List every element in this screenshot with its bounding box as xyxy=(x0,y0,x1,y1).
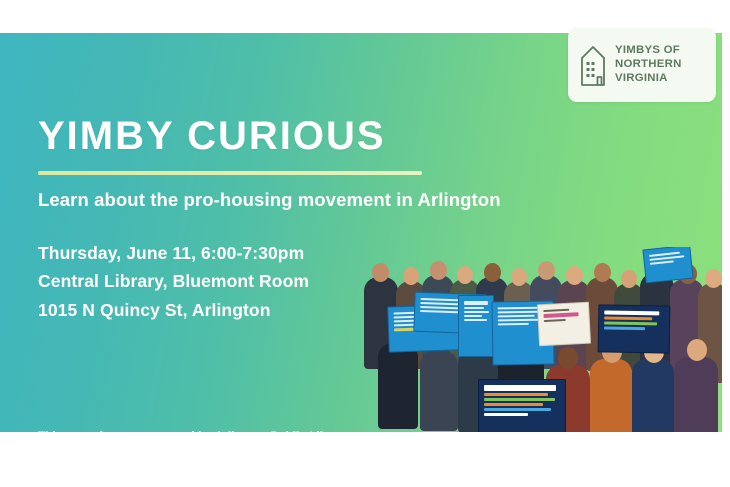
sign-in-this-home xyxy=(478,379,566,432)
flyer-text-block: YIMBY CURIOUS Learn about the pro-housin… xyxy=(38,115,458,324)
person-head xyxy=(687,339,707,361)
event-details: Thursday, June 11, 6:00-7:30pm Central L… xyxy=(38,239,458,324)
person-head xyxy=(538,261,555,280)
person-figure xyxy=(590,359,632,432)
event-address: 1015 N Quincy St, Arlington xyxy=(38,296,458,324)
person-head xyxy=(457,266,473,284)
person-head xyxy=(484,263,501,282)
person-head xyxy=(594,263,611,282)
person-figure xyxy=(378,343,418,429)
page-title: YIMBY CURIOUS xyxy=(38,115,458,157)
sign-welcome-to-arlington xyxy=(537,302,591,347)
sign-in-this-home xyxy=(598,304,671,353)
person-head xyxy=(511,268,527,286)
title-divider xyxy=(38,171,422,175)
person-head xyxy=(558,347,578,369)
sponsorship-disclaimer: This event is not sponsored by Arlington… xyxy=(38,431,352,432)
house-building-icon xyxy=(580,44,606,86)
subtitle: Learn about the pro-housing movement in … xyxy=(38,189,458,211)
sign-yes-to xyxy=(642,247,693,283)
person-head xyxy=(566,266,583,285)
logo-wordmark: YIMBYS OF NORTHERN VIRGINIA xyxy=(615,44,682,86)
event-datetime: Thursday, June 11, 6:00-7:30pm xyxy=(38,239,458,267)
logo-line-1: YIMBYS OF xyxy=(615,44,682,58)
person-figure xyxy=(420,351,458,431)
person-head xyxy=(621,270,637,288)
sign-in-this-home xyxy=(458,295,494,357)
person-figure xyxy=(674,357,718,432)
logo-line-2: NORTHERN xyxy=(615,58,682,72)
flyer-canvas: Group of people holding pro-housing sign… xyxy=(0,0,730,487)
organization-logo: YIMBYS OF NORTHERN VIRGINIA xyxy=(568,28,716,102)
logo-line-3: VIRGINIA xyxy=(615,72,682,86)
event-venue: Central Library, Bluemont Room xyxy=(38,267,458,295)
person-head xyxy=(705,269,722,288)
person-figure xyxy=(632,359,674,432)
